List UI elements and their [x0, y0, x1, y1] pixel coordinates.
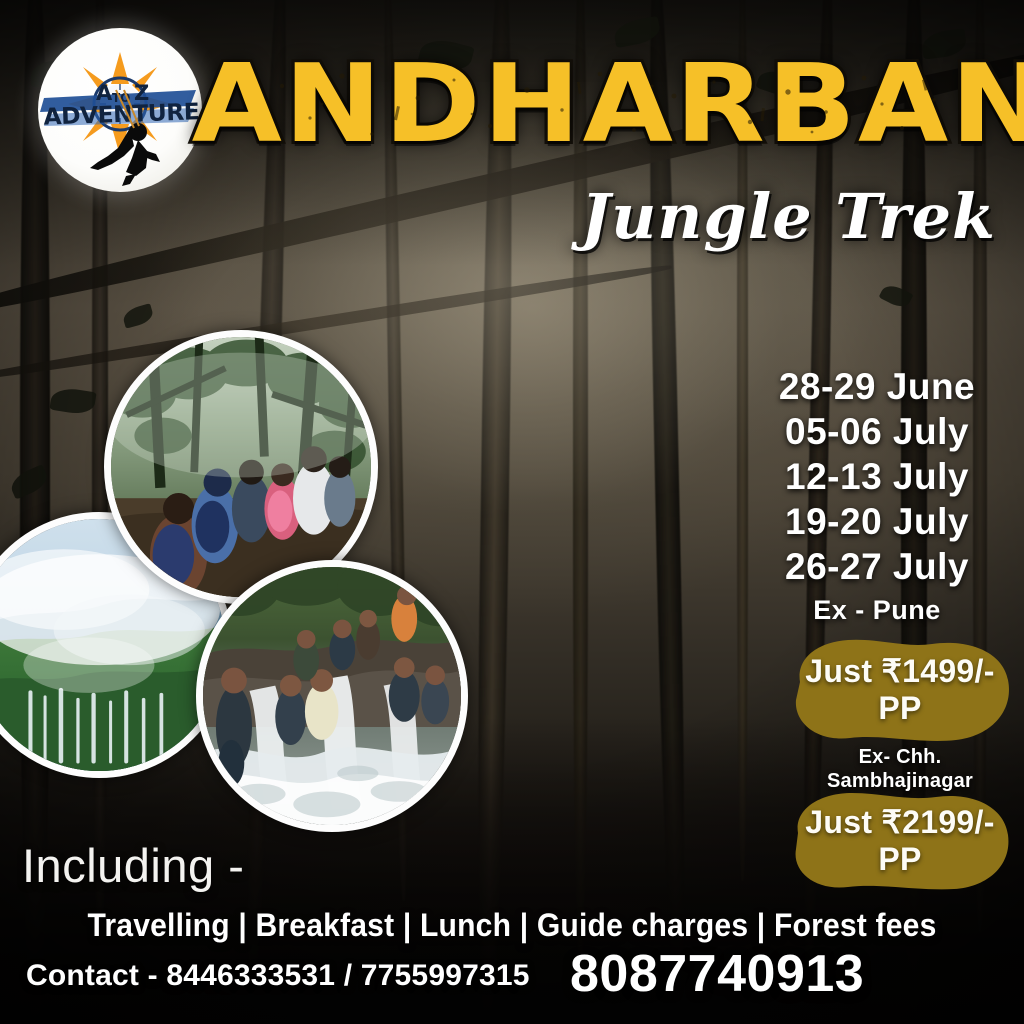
price-line-2: PP — [878, 841, 921, 878]
primary-phone-number[interactable]: 8087740913 — [570, 944, 864, 1004]
page-subtitle: Jungle Trek — [581, 182, 996, 252]
date-item: 28-29 June — [752, 368, 1002, 406]
price-badge-text: Just ₹2199/- PP — [786, 789, 1014, 893]
page-title: ANDHARBAN — [192, 46, 1013, 164]
photo-group-waterfall — [196, 560, 468, 832]
departure-city: Ex - Pune — [752, 595, 1002, 625]
logo-mark-icon: A TO Z ADVENTURE — [38, 28, 202, 192]
price-badge-pune[interactable]: Just ₹1499/- PP — [786, 636, 1014, 744]
price-line-2: PP — [878, 690, 921, 727]
date-item: 26-27 July — [752, 548, 1002, 586]
date-item: 19-20 July — [752, 503, 1002, 541]
price-badge-text: Just ₹1499/- PP — [786, 636, 1014, 744]
date-item: 12-13 July — [752, 458, 1002, 496]
brand-logo[interactable]: A TO Z ADVENTURE — [38, 28, 202, 192]
inclusions-list: Travelling | Breakfast | Lunch | Guide c… — [31, 906, 994, 944]
poster-canvas: A TO Z ADVENTURE ANDHARBAN — [0, 0, 1024, 1024]
contact-numbers[interactable]: Contact - 8446333531 / 7755997315 — [26, 957, 530, 995]
price-line-1: Just ₹1499/- — [805, 653, 994, 690]
dates-list: 28-29 June 05-06 July 12-13 July 19-20 J… — [752, 368, 1002, 625]
price-line-1: Just ₹2199/- — [805, 804, 994, 841]
price-badge-sambhajinagar[interactable]: Just ₹2199/- PP — [786, 789, 1014, 893]
price-note-sambhajinagar: Ex- Chh. Sambhajinagar — [786, 745, 1014, 793]
date-item: 05-06 July — [752, 413, 1002, 451]
including-heading: Including - — [22, 840, 244, 892]
